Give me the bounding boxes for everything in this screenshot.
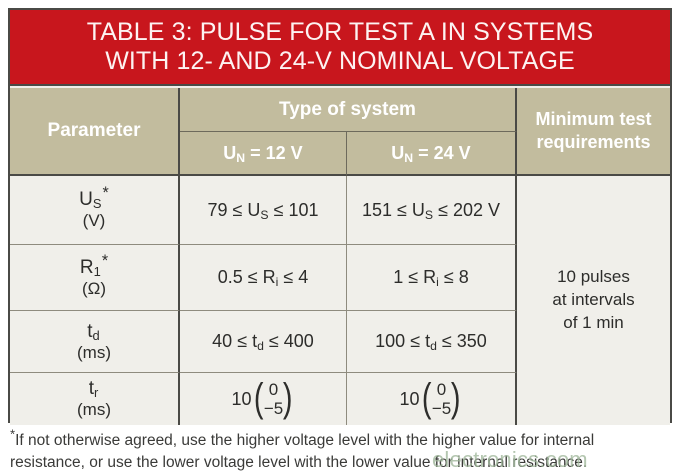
table-3: TABLE 3: PULSE FOR TEST A IN SYSTEMS WIT…	[8, 8, 672, 423]
paren-open-icon: (	[422, 383, 432, 414]
minimum-test-requirements-text: 10 pulses at intervals of 1 min	[552, 266, 634, 335]
table-row-ri-un24: 1 ≤ Ri ≤ 8	[347, 245, 517, 311]
param-symbol-td: td	[87, 321, 100, 343]
header-minimum-test-requirements-label: Minimum test requirements	[535, 108, 651, 154]
param-unit-us: (V)	[83, 211, 106, 231]
footnote-text: If not otherwise agreed, use the higher …	[10, 432, 594, 471]
table-row-tr-un24: 10 ( 0 −5 )	[347, 373, 517, 425]
table-title: TABLE 3: PULSE FOR TEST A IN SYSTEMS WIT…	[77, 18, 604, 77]
table-row-td-un12: 40 ≤ td ≤ 400	[180, 311, 347, 373]
header-un-24v: UN = 24 V	[347, 132, 517, 176]
value-td-un12: 40 ≤ td ≤ 400	[212, 331, 314, 352]
param-unit-td: (ms)	[77, 343, 111, 363]
table-row-ri-parameter: R1* (Ω)	[10, 245, 180, 311]
header-minimum-test-requirements: Minimum test requirements	[517, 88, 670, 176]
tolerance-upper: 0	[437, 380, 446, 399]
header-parameter: Parameter	[10, 88, 180, 176]
table-row-tr-un12: 10 ( 0 −5 )	[180, 373, 347, 425]
param-unit-tr: (ms)	[77, 400, 111, 420]
value-td-un24: 100 ≤ td ≤ 350	[375, 331, 487, 352]
table-row-us-parameter: US* (V)	[10, 176, 180, 245]
header-type-of-system: Type of system	[180, 88, 517, 132]
table-row-us-un12: 79 ≤ US ≤ 101	[180, 176, 347, 245]
table-row-td-parameter: td (ms)	[10, 311, 180, 373]
param-symbol-us: US*	[79, 189, 109, 211]
param-symbol-ri: R1*	[80, 257, 108, 279]
table-title-banner: TABLE 3: PULSE FOR TEST A IN SYSTEMS WIT…	[10, 10, 670, 86]
table-row-ri-un12: 0.5 ≤ Ri ≤ 4	[180, 245, 347, 311]
header-un-12v: UN = 12 V	[180, 132, 347, 176]
value-us-un24: 151 ≤ US ≤ 202 V	[362, 200, 500, 221]
table-grid: Parameter Type of system UN = 12 V UN = …	[10, 88, 670, 421]
paren-close-icon: )	[283, 383, 293, 414]
header-type-of-system-label: Type of system	[279, 99, 416, 121]
footnote: *If not otherwise agreed, use the higher…	[10, 430, 650, 474]
paren-close-icon: )	[451, 383, 461, 414]
header-parameter-label: Parameter	[48, 120, 141, 142]
value-ri-un24: 1 ≤ Ri ≤ 8	[393, 267, 469, 288]
table-row-td-un24: 100 ≤ td ≤ 350	[347, 311, 517, 373]
param-unit-ri: (Ω)	[82, 279, 106, 299]
value-tr-un12: 10 ( 0 −5 )	[231, 380, 294, 418]
header-un-24v-label: UN = 24 V	[391, 143, 470, 164]
cell-minimum-test-requirements-value: 10 pulses at intervals of 1 min	[517, 176, 670, 425]
value-us-un12: 79 ≤ US ≤ 101	[208, 200, 319, 221]
tolerance-lower: −5	[264, 399, 283, 418]
table-row-tr-parameter: tr (ms)	[10, 373, 180, 425]
value-tr-un24: 10 ( 0 −5 )	[399, 380, 462, 418]
tolerance-lower: −5	[432, 399, 451, 418]
table-figure: TABLE 3: PULSE FOR TEST A IN SYSTEMS WIT…	[0, 0, 680, 475]
tolerance-upper: 0	[269, 380, 278, 399]
param-symbol-tr: tr	[89, 378, 100, 400]
value-ri-un12: 0.5 ≤ Ri ≤ 4	[218, 267, 309, 288]
header-un-12v-label: UN = 12 V	[223, 143, 302, 164]
paren-open-icon: (	[254, 383, 264, 414]
table-row-us-un24: 151 ≤ US ≤ 202 V	[347, 176, 517, 245]
